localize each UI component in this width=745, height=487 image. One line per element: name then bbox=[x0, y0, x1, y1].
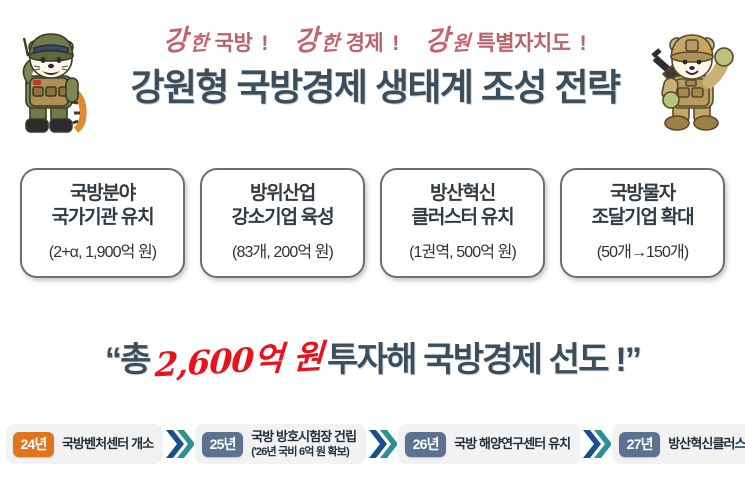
strategy-box-2-detail: (1권역, 500억 원) bbox=[409, 238, 516, 262]
page-title: 강원형 국방경제 생태계 조성 전략 bbox=[95, 66, 655, 110]
strategy-box-2[interactable]: 방산혁신 클러스터 유치 (1권역, 500억 원) bbox=[380, 168, 545, 278]
timeline-year-badge-3: 27년 bbox=[619, 432, 660, 457]
strategy-box-0-line1: 국방분야 bbox=[70, 182, 135, 206]
timeline-main-3: 방산혁신클러스터 유치 bbox=[668, 437, 745, 452]
kicker-plain-1: 경제 bbox=[346, 33, 384, 54]
strategy-box-1-line1: 방위산업 bbox=[250, 182, 315, 206]
timeline-year-badge-0: 24년 bbox=[13, 432, 54, 457]
strategy-box-2-line1: 방산혁신 bbox=[430, 182, 495, 206]
chevron-double-right-icon-0 bbox=[164, 424, 194, 464]
chevron-double-right-icon-2 bbox=[581, 424, 611, 464]
strategy-box-2-line2: 클러스터 유치 bbox=[412, 206, 514, 230]
strategy-box-3[interactable]: 국방물자 조달기업 확대 (50개→150개) bbox=[560, 168, 725, 278]
strategy-box-0[interactable]: 국방분야 국가기관 유치 (2+α, 1,900억 원) bbox=[20, 168, 185, 278]
roadmap-timeline: 24년 국방벤처센터 개소 25년 국방 방호시험장 건립 ('26년 국비 6… bbox=[6, 422, 739, 466]
kicker-script-small-1: 한 bbox=[321, 32, 339, 53]
strategy-box-0-detail: (2+α, 1,900억 원) bbox=[49, 238, 156, 262]
kicker-script-small-0: 한 bbox=[190, 32, 208, 53]
strategy-box-1[interactable]: 방위산업 강소기업 육성 (83개, 200억 원) bbox=[200, 168, 365, 278]
timeline-text-1: 국방 방호시험장 건립 ('26년 국비 6억 원 확보) bbox=[251, 430, 356, 459]
timeline-main-2: 국방 해양연구센터 유치 bbox=[454, 437, 570, 452]
timeline-item-1[interactable]: 25년 국방 방호시험장 건립 ('26년 국비 6억 원 확보) bbox=[195, 424, 366, 464]
kicker-script-big-2: 강 bbox=[425, 26, 449, 56]
timeline-item-0[interactable]: 24년 국방벤처센터 개소 bbox=[6, 424, 163, 464]
timeline-main-0: 국방벤처센터 개소 bbox=[62, 437, 153, 452]
infographic-poster: 강 한 국방 ! 강 한 경제 ! 강 원 특별자치도 ! 강원형 국방경제 생… bbox=[0, 0, 745, 487]
strategy-box-3-detail: (50개→150개) bbox=[597, 238, 689, 262]
slogan-tail: 투자해 국방경제 선도 !” bbox=[327, 343, 640, 377]
strategy-box-3-line1: 국방물자 bbox=[610, 182, 675, 206]
kicker-script-big-0: 강 bbox=[163, 26, 187, 56]
bear-soldier-rifle-mascot bbox=[645, 26, 741, 143]
strategy-box-1-line2: 강소기업 육성 bbox=[232, 206, 334, 230]
timeline-item-2[interactable]: 26년 국방 해양연구센터 유치 bbox=[398, 424, 580, 464]
tiger-soldier-saluting-mascot bbox=[4, 26, 100, 143]
kicker-slogan-row: 강 한 국방 ! 강 한 경제 ! 강 원 특별자치도 ! bbox=[95, 21, 655, 61]
timeline-main-1: 국방 방호시험장 건립 bbox=[251, 430, 356, 445]
kicker-item-0: 강 한 국방 ! bbox=[163, 28, 268, 55]
investment-slogan: “총 2,600억 원 투자해 국방경제 선도 !” bbox=[0, 332, 745, 388]
kicker-plain-0: 국방 bbox=[215, 33, 253, 54]
kicker-script-small-2: 원 bbox=[452, 32, 470, 53]
strategy-box-3-line2: 조달기업 확대 bbox=[592, 206, 694, 230]
header-band: 강 한 국방 ! 강 한 경제 ! 강 원 특별자치도 ! 강원형 국방경제 생… bbox=[0, 0, 745, 150]
timeline-year-badge-1: 25년 bbox=[202, 432, 243, 457]
timeline-item-3[interactable]: 27년 방산혁신클러스터 유치 bbox=[612, 424, 745, 464]
timeline-text-0: 국방벤처센터 개소 bbox=[62, 437, 153, 452]
strategy-box-row: 국방분야 국가기관 유치 (2+α, 1,900억 원) 방위산업 강소기업 육… bbox=[0, 168, 745, 288]
kicker-script-big-1: 강 bbox=[294, 26, 318, 56]
chevron-double-right-icon-1 bbox=[367, 424, 397, 464]
kicker-bang-0: ! bbox=[261, 33, 268, 54]
strategy-box-1-detail: (83개, 200억 원) bbox=[232, 238, 333, 262]
kicker-bang-2: ! bbox=[580, 33, 587, 54]
timeline-year-badge-2: 26년 bbox=[405, 432, 446, 457]
kicker-plain-2: 특별자치도 bbox=[476, 33, 570, 54]
timeline-text-2: 국방 해양연구센터 유치 bbox=[454, 437, 570, 452]
slogan-open: “총 bbox=[105, 343, 150, 377]
timeline-text-3: 방산혁신클러스터 유치 bbox=[668, 437, 745, 452]
slogan-amount: 2,600억 원 bbox=[154, 339, 323, 381]
kicker-bang-1: ! bbox=[392, 33, 399, 54]
timeline-note-1: ('26년 국비 6억 원 확보) bbox=[251, 446, 356, 459]
strategy-box-0-line2: 국가기관 유치 bbox=[52, 206, 154, 230]
kicker-item-1: 강 한 경제 ! bbox=[294, 28, 399, 55]
kicker-item-2: 강 원 특별자치도 ! bbox=[425, 28, 586, 55]
